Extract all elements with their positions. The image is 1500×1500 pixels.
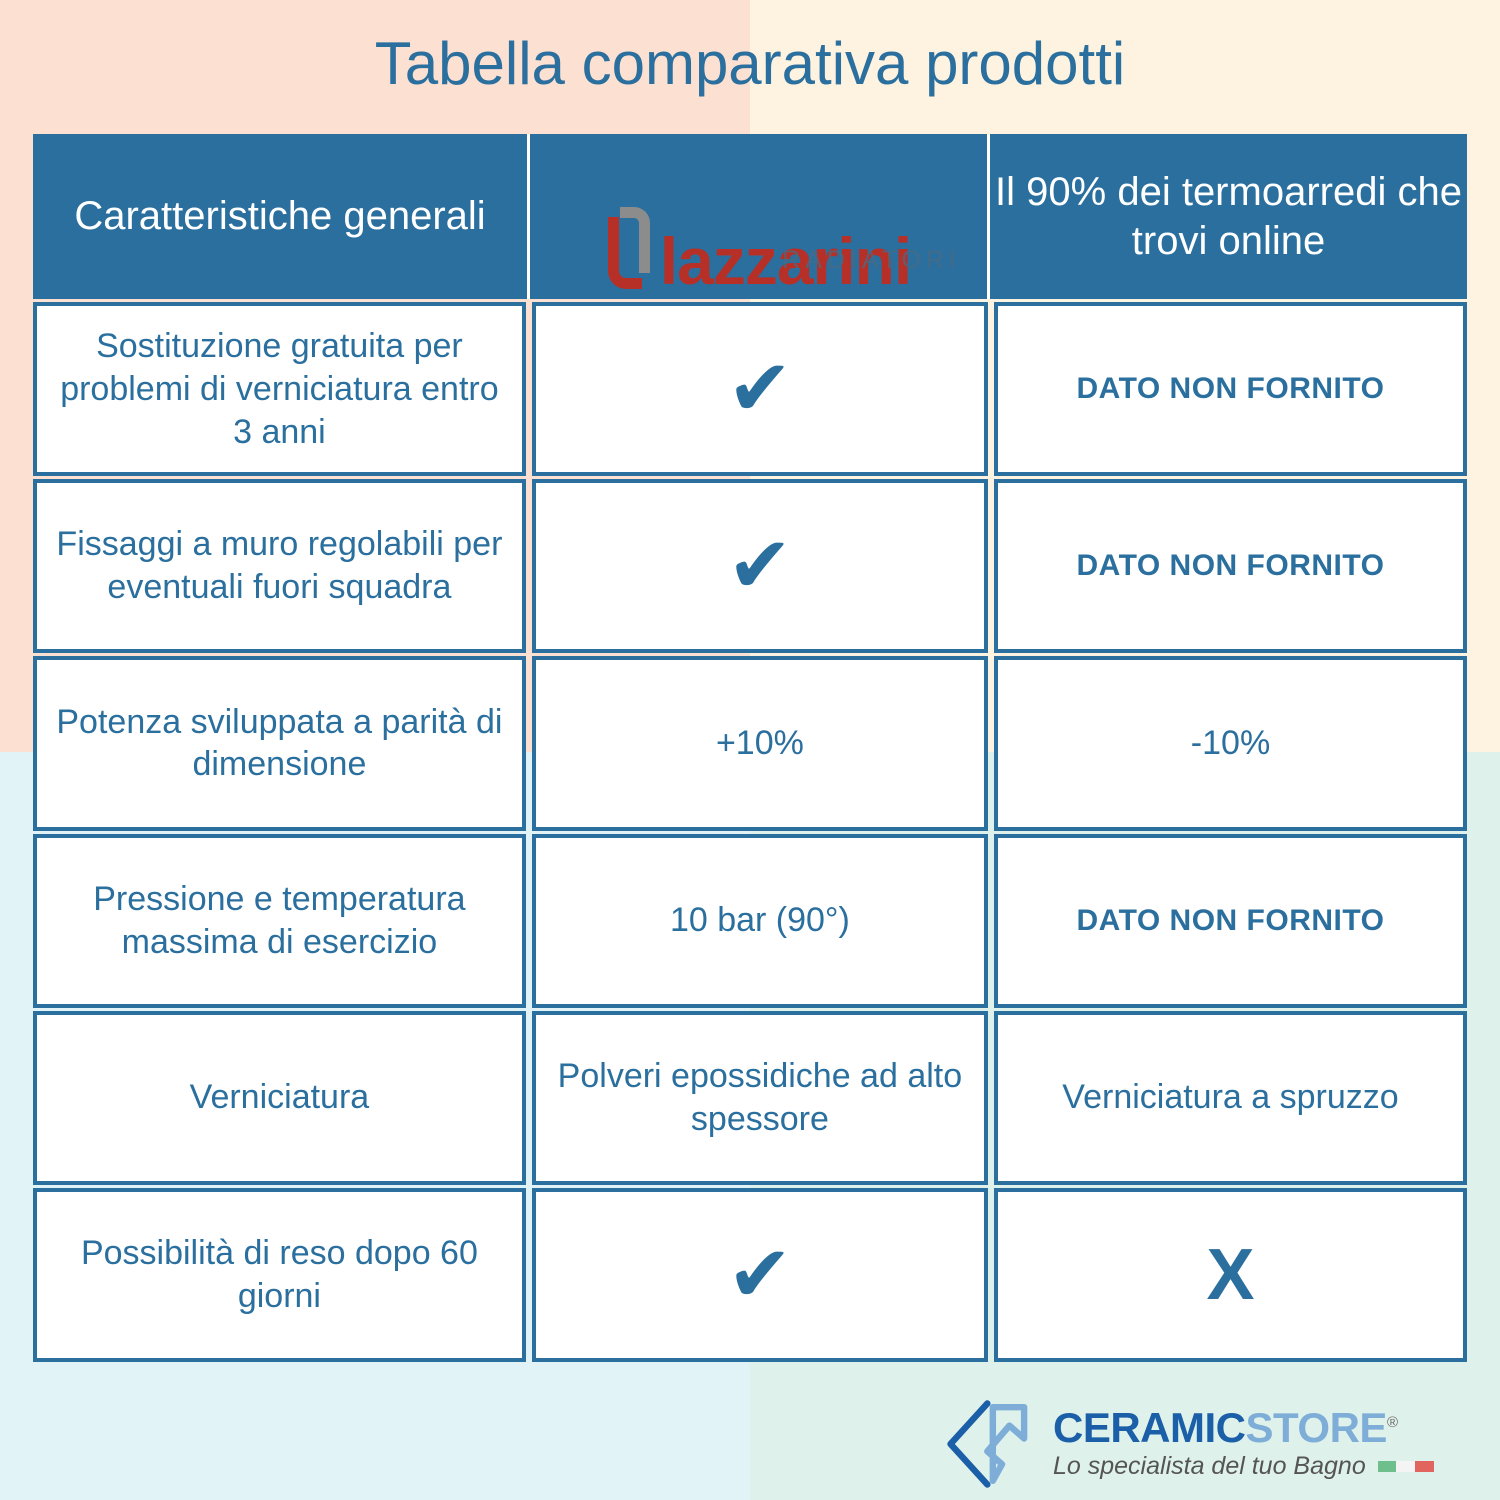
table-row: Potenza sviluppata a parità di dimension… [33,656,1467,830]
ceramicstore-tagline: Lo specialista del tuo Bagno [1053,1452,1366,1481]
competitor-value: DATO NON FORNITO [1076,547,1384,585]
lazzarini-value-cell: ✔ [532,302,988,476]
feature-label: Potenza sviluppata a parità di dimension… [51,701,508,787]
feature-label: Sostituzione gratuita per problemi di ve… [51,325,508,453]
feature-cell: Fissaggi a muro regolabili per eventuali… [33,479,526,653]
lazzarini-value-cell: +10% [532,656,988,830]
competitor-value-cell: DATO NON FORNITO [994,834,1467,1008]
brand-primary: CERAMIC [1053,1404,1246,1451]
check-icon: ✔ [727,527,792,605]
lazzarini-value: +10% [716,722,804,765]
check-icon: ✔ [727,350,792,428]
table-header-row: Caratteristiche generali lazzarini RADIA… [33,134,1467,299]
cross-icon: X [1206,1239,1254,1311]
feature-cell: Pressione e temperatura massima di eserc… [33,834,526,1008]
ceramicstore-text-block: CERAMICSTORE® Lo specialista del tuo Bag… [1053,1407,1434,1482]
competitor-value: DATO NON FORNITO [1076,370,1384,408]
lazzarini-value: Polveri epossidiche ad alto spessore [550,1055,970,1141]
table-row: Verniciatura Polveri epossidiche ad alto… [33,1011,1467,1185]
header-cell-competitor: Il 90% dei termoarredi che trovi online [990,134,1467,299]
lazzarini-hook-icon [606,207,652,293]
check-icon: ✔ [727,1236,792,1314]
header-cell-features: Caratteristiche generali [33,134,530,299]
header-cell-lazzarini-logo: lazzarini RADIATORI [530,134,990,299]
page-title: Tabella comparativa prodotti [0,28,1500,100]
table-row: Sostituzione gratuita per problemi di ve… [33,302,1467,476]
italy-flag-icon [1378,1461,1434,1472]
feature-cell: Verniciatura [33,1011,526,1185]
lazzarini-sublabel: RADIATORI [782,245,961,276]
lazzarini-value: 10 bar (90°) [670,899,850,942]
competitor-value-cell: -10% [994,656,1467,830]
registered-mark-icon: ® [1387,1414,1398,1431]
ceramicstore-logo: CERAMICSTORE® Lo specialista del tuo Bag… [945,1396,1465,1492]
table-row: Pressione e temperatura massima di eserc… [33,834,1467,1008]
feature-label: Fissaggi a muro regolabili per eventuali… [51,523,508,609]
ceramicstore-mark-icon [945,1398,1037,1490]
lazzarini-value-cell: ✔ [532,479,988,653]
table-row: Possibilità di reso dopo 60 giorni ✔ X [33,1188,1467,1362]
lazzarini-value-cell: ✔ [532,1188,988,1362]
feature-cell: Potenza sviluppata a parità di dimension… [33,656,526,830]
ceramicstore-name: CERAMICSTORE® [1053,1407,1434,1450]
feature-label: Possibilità di reso dopo 60 giorni [51,1232,508,1318]
table-row: Fissaggi a muro regolabili per eventuali… [33,479,1467,653]
feature-cell: Sostituzione gratuita per problemi di ve… [33,302,526,476]
lazzarini-value-cell: 10 bar (90°) [532,834,988,1008]
comparison-table: Caratteristiche generali lazzarini RADIA… [33,134,1467,1362]
brand-secondary: STORE [1246,1404,1387,1451]
feature-label: Verniciatura [190,1076,370,1119]
competitor-value-cell: Verniciatura a spruzzo [994,1011,1467,1185]
competitor-value-cell: X [994,1188,1467,1362]
competitor-value: Verniciatura a spruzzo [1062,1076,1398,1119]
feature-cell: Possibilità di reso dopo 60 giorni [33,1188,526,1362]
ceramicstore-tagline-row: Lo specialista del tuo Bagno [1053,1452,1434,1481]
competitor-value-cell: DATO NON FORNITO [994,479,1467,653]
lazzarini-value-cell: Polveri epossidiche ad alto spessore [532,1011,988,1185]
header-label-features: Caratteristiche generali [74,192,485,241]
feature-label: Pressione e temperatura massima di eserc… [51,878,508,964]
competitor-value: -10% [1191,722,1270,765]
competitor-value: DATO NON FORNITO [1076,902,1384,940]
header-label-competitor: Il 90% dei termoarredi che trovi online [990,168,1467,266]
competitor-value-cell: DATO NON FORNITO [994,302,1467,476]
